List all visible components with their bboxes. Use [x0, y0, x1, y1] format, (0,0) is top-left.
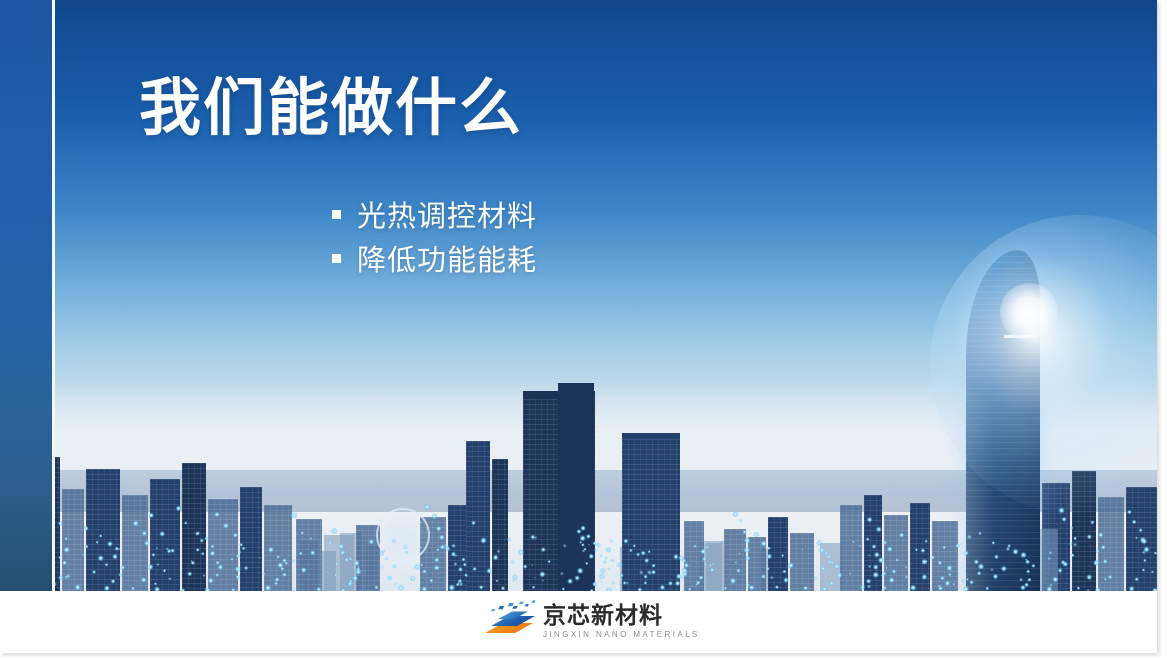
page-title: 我们能做什么 — [139, 76, 523, 141]
skyscraper-light-stripe — [1004, 335, 1036, 338]
list-item: 光热调控材料 — [332, 192, 537, 236]
hero-background-image: 我们能做什么 光热调控材料 降低功能能耗 — [0, 0, 1157, 591]
footer-bar: 京芯新材料 JINGXIN NANO MATERIALS — [0, 591, 1157, 653]
company-name-cn: 京芯新材料 — [543, 603, 700, 627]
left-vertical-rule — [52, 0, 55, 591]
square-bullet-icon — [332, 254, 341, 263]
curved-skyscraper — [966, 250, 1040, 591]
bullet-label: 降低功能能耗 — [357, 237, 537, 279]
list-item: 降低功能能耗 — [332, 236, 537, 280]
pixel-stack-logo-icon — [481, 600, 537, 642]
company-logo: 京芯新材料 JINGXIN NANO MATERIALS — [481, 599, 700, 643]
logo-wordmark: 京芯新材料 JINGXIN NANO MATERIALS — [543, 603, 700, 638]
slide-frame: 我们能做什么 光热调控材料 降低功能能耗 — [0, 0, 1157, 653]
ferris-wheel-icon — [376, 508, 430, 562]
bullet-list: 光热调控材料 降低功能能耗 — [332, 192, 537, 280]
company-name-en: JINGXIN NANO MATERIALS — [543, 630, 700, 639]
left-accent-band — [0, 0, 52, 591]
bullet-label: 光热调控材料 — [357, 193, 537, 235]
square-bullet-icon — [332, 210, 341, 219]
